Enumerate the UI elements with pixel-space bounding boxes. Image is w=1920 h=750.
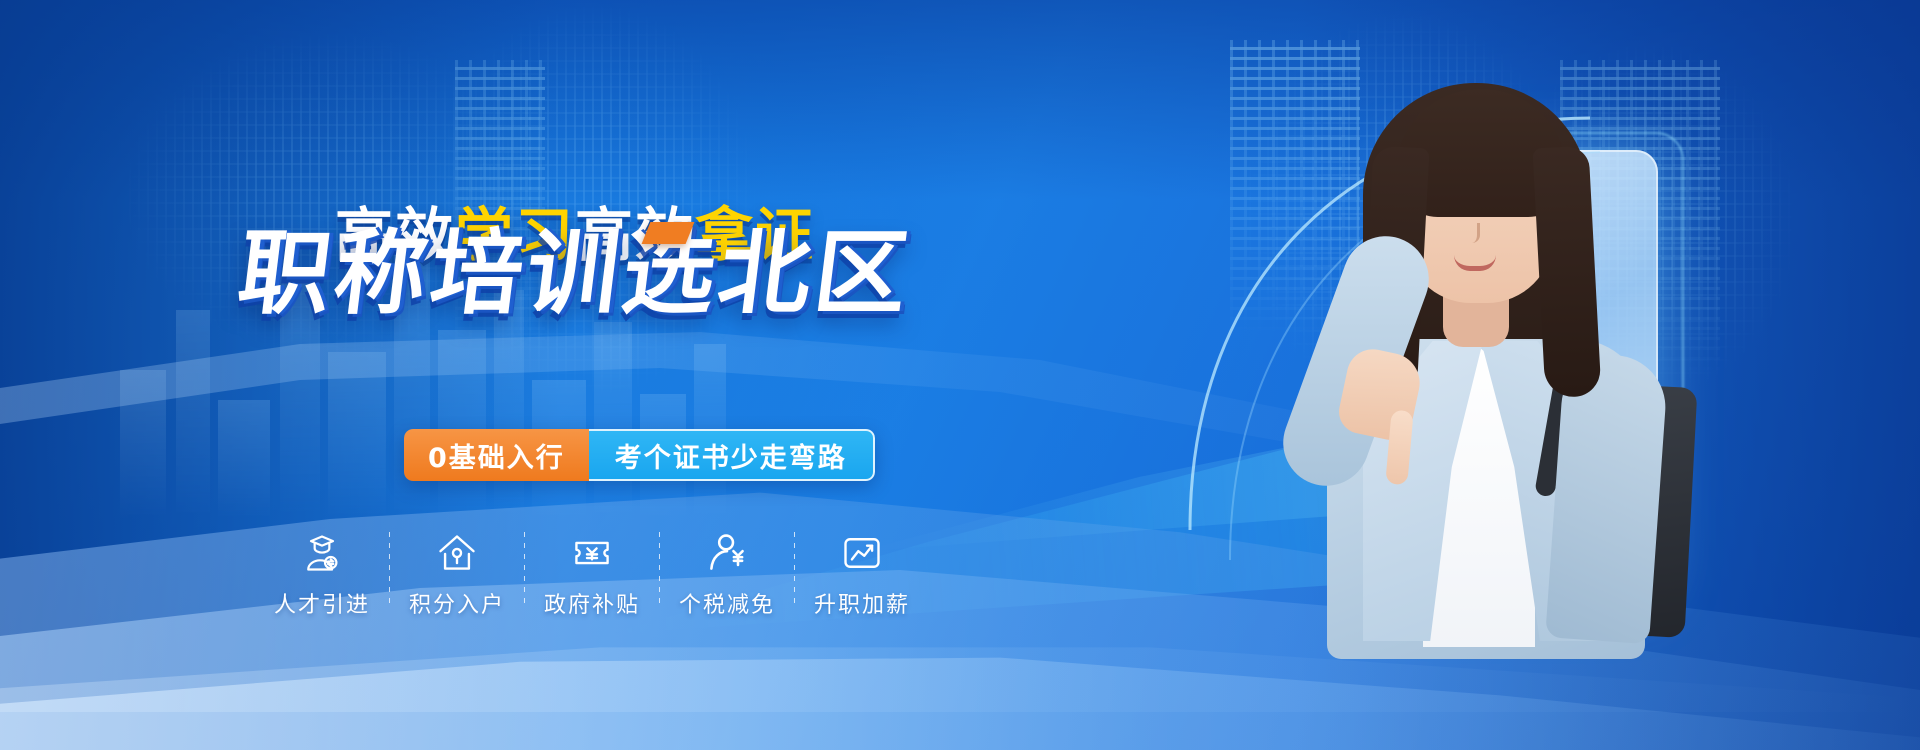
feature-list: 人才引进 积分入户 — [255, 530, 929, 619]
headline-wrapper: 职称培训选北区 — [0, 226, 1150, 322]
feature-label: 政府补贴 — [544, 587, 640, 619]
graduate-person-icon — [300, 530, 344, 576]
badge-right-label: 考个证书少走弯路 — [589, 429, 875, 481]
person-yuan-icon — [705, 530, 749, 576]
ticket-yuan-icon — [570, 530, 614, 576]
chart-rising-icon — [840, 530, 884, 576]
headline: 职称培训选北区 — [233, 226, 917, 322]
promo-banner: 高效学习高效拿证 职称培训选北区 0基础入行 考个证书少走弯路 — [0, 0, 1920, 750]
feature-label: 升职加薪 — [814, 587, 910, 619]
feature-label: 积分入户 — [409, 587, 505, 619]
feature-label: 人才引进 — [274, 587, 370, 619]
house-pin-icon — [435, 530, 479, 576]
badge-left-label: 0基础入行 — [404, 429, 589, 481]
promo-badge[interactable]: 0基础入行 考个证书少走弯路 — [404, 429, 875, 481]
feature-label: 个税减免 — [679, 587, 775, 619]
orange-accent-mark — [642, 222, 695, 244]
feature-item-subsidy[interactable]: 政府补贴 — [525, 530, 659, 619]
feature-item-talent[interactable]: 人才引进 — [255, 530, 389, 619]
copy-block: 高效学习高效拿证 职称培训选北区 0基础入行 考个证书少走弯路 — [0, 0, 1150, 750]
feature-item-residency[interactable]: 积分入户 — [390, 530, 524, 619]
feature-item-promotion[interactable]: 升职加薪 — [795, 530, 929, 619]
model-illustration — [1255, 55, 1725, 655]
feature-item-taxbreak[interactable]: 个税减免 — [660, 530, 794, 619]
model-photo-area — [1020, 0, 1920, 750]
